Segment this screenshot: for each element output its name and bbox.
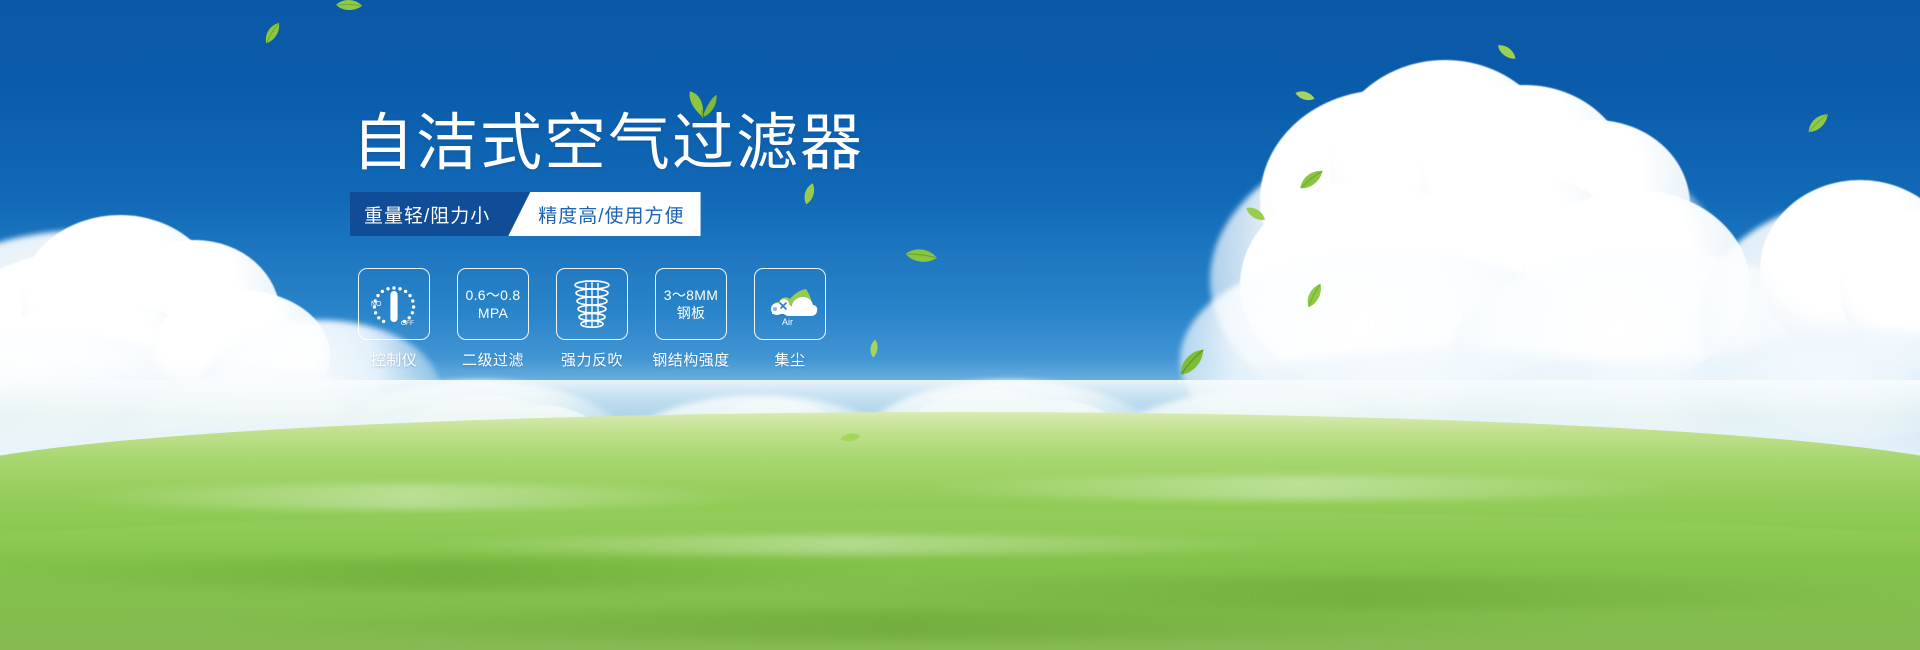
feature-label: 集尘 — [774, 349, 805, 370]
pressure-range-text: 0.6～0.8 — [465, 286, 520, 304]
air-label-text: Air — [782, 317, 793, 327]
feature-item-dust-collection: Air 集尘 — [754, 268, 826, 370]
feature-label: 二级过滤 — [462, 349, 524, 370]
tag-highprecision-easyuse: 精度高/使用方便 — [508, 192, 700, 236]
feature-icon-box: NO OFF — [358, 268, 430, 340]
feature-label: 控制仪 — [371, 349, 418, 370]
tag-lightweight-lowresistance: 重量轻/阻力小 — [350, 192, 530, 236]
gauge-label-off: OFF — [401, 320, 414, 327]
steel-plate-text: 钢板 — [677, 304, 706, 322]
filter-cartridge-icon — [566, 278, 618, 330]
air-cloud-icon: Air — [762, 281, 818, 327]
feature-icon-list: NO OFF 控制仪 0.6～0.8 MPA 二级过滤 — [358, 268, 826, 370]
feature-icon-box: 0.6～0.8 MPA — [457, 268, 529, 340]
feature-item-steel-strength: 3～8MM 钢板 钢结构强度 — [655, 268, 727, 370]
feature-icon-box — [556, 268, 628, 340]
gauge-dial-icon: NO OFF — [367, 279, 421, 329]
feature-item-back-blowing: 强力反吹 — [556, 268, 628, 370]
feature-label: 钢结构强度 — [652, 349, 730, 370]
feature-tag-bar: 重量轻/阻力小 精度高/使用方便 — [350, 192, 701, 236]
feature-icon-box: 3～8MM 钢板 — [655, 268, 727, 340]
feature-label: 强力反吹 — [561, 349, 623, 370]
feature-item-controller: NO OFF 控制仪 — [358, 268, 430, 370]
feature-icon-box: Air — [754, 268, 826, 340]
product-hero-banner: 自洁式空气过滤器 重量轻/阻力小 精度高/使用方便 — [0, 0, 1920, 650]
gauge-label-no: NO — [371, 301, 382, 308]
steel-thickness-text: 3～8MM — [664, 286, 718, 304]
feature-item-secondary-filtration: 0.6～0.8 MPA 二级过滤 — [457, 268, 529, 370]
pressure-unit-text: MPA — [478, 304, 508, 322]
page-title: 自洁式空气过滤器 — [352, 112, 864, 174]
